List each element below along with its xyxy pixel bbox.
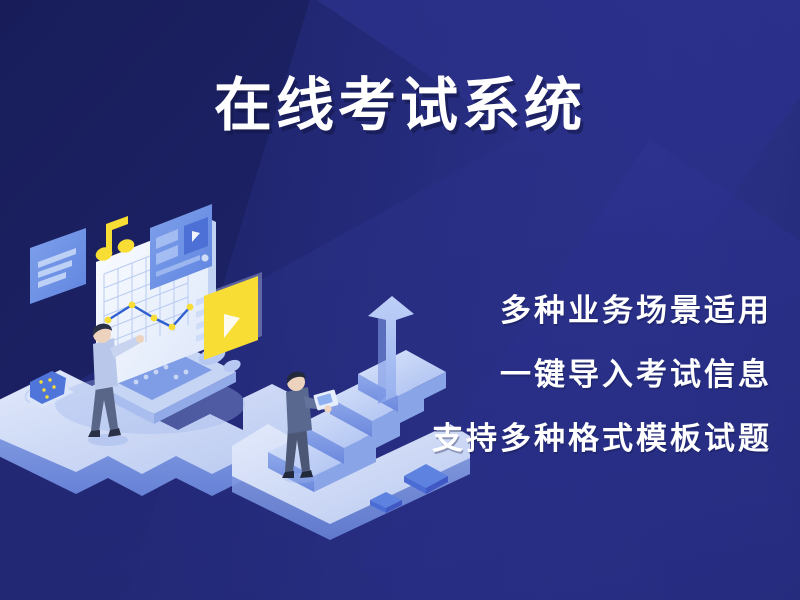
promo-banner: 在线考试系统 多种业务场景适用 一键导入考试信息 支持多种格式模板试题 bbox=[0, 0, 800, 600]
feature-item-2: 一键导入考试信息 bbox=[352, 360, 772, 391]
page-title: 在线考试系统 bbox=[0, 76, 800, 134]
feature-item-3: 支持多种格式模板试题 bbox=[352, 424, 772, 455]
feature-item-1: 多种业务场景适用 bbox=[352, 296, 772, 327]
feature-list: 多种业务场景适用 一键导入考试信息 支持多种格式模板试题 bbox=[352, 296, 772, 455]
